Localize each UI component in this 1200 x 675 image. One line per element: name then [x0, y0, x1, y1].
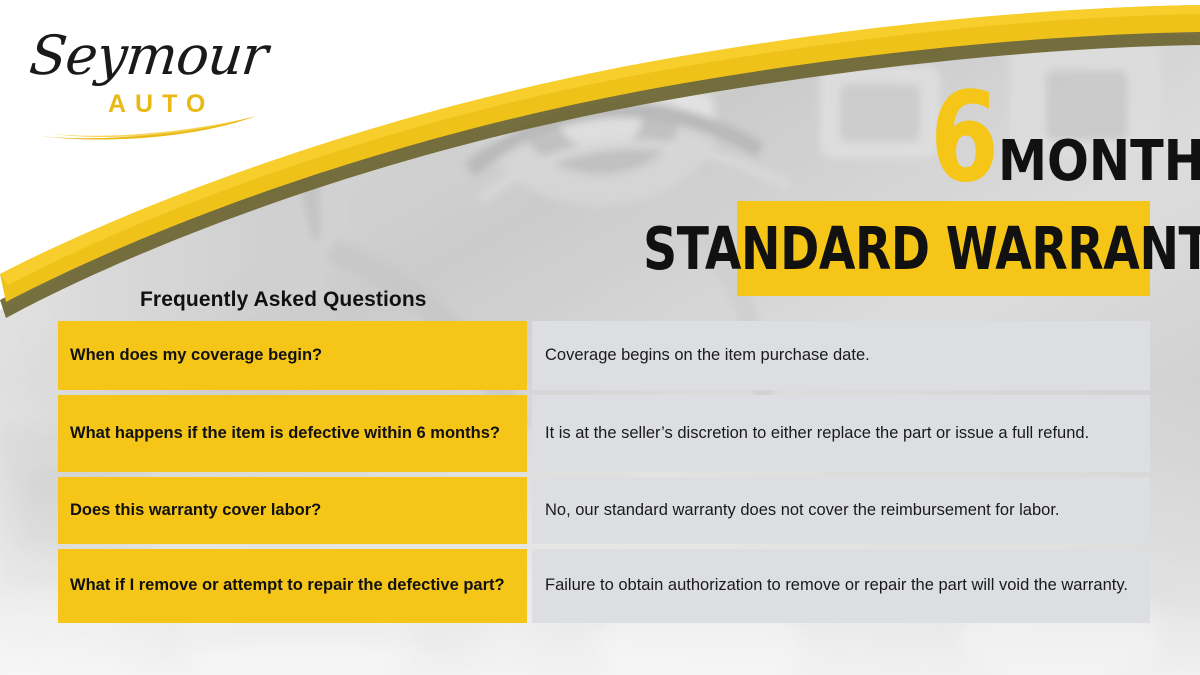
faq-heading: Frequently Asked Questions: [140, 288, 427, 312]
duration-number: 6: [930, 88, 997, 190]
table-row: When does my coverage begin? Coverage be…: [58, 321, 1150, 390]
faq-answer-text: Failure to obtain authorization to remov…: [545, 575, 1136, 596]
duration-unit: MONTH: [998, 138, 1200, 186]
faq-answer-cell: It is at the seller’s discretion to eith…: [532, 395, 1150, 472]
warranty-duration: 6 MONTH: [930, 78, 1200, 190]
faq-question-cell: What happens if the item is defective wi…: [58, 395, 527, 472]
faq-question-cell: When does my coverage begin?: [58, 321, 527, 390]
warranty-banner-title: STANDARD WARRANTY: [643, 219, 1200, 278]
table-row: Does this warranty cover labor? No, our …: [58, 477, 1150, 544]
faq-question-text: What if I remove or attempt to repair th…: [70, 575, 505, 596]
faq-answer-text: No, our standard warranty does not cover…: [545, 500, 1136, 521]
faq-question-cell: What if I remove or attempt to repair th…: [58, 549, 527, 623]
table-row: What if I remove or attempt to repair th…: [58, 549, 1150, 623]
swoosh-icon: [34, 108, 264, 142]
faq-answer-cell: Failure to obtain authorization to remov…: [532, 549, 1150, 623]
faq-question-text: Does this warranty cover labor?: [70, 500, 321, 521]
brand-logo[interactable]: Seymour AUTO: [24, 22, 264, 134]
faq-answer-cell: Coverage begins on the item purchase dat…: [532, 321, 1150, 390]
faq-answer-text: It is at the seller’s discretion to eith…: [545, 423, 1136, 444]
faq-question-text: When does my coverage begin?: [70, 345, 322, 366]
faq-answer-text: Coverage begins on the item purchase dat…: [545, 345, 1136, 366]
faq-question-text: What happens if the item is defective wi…: [70, 423, 500, 444]
faq-question-cell: Does this warranty cover labor?: [58, 477, 527, 544]
faq-table: When does my coverage begin? Coverage be…: [58, 321, 1150, 623]
faq-answer-cell: No, our standard warranty does not cover…: [532, 477, 1150, 544]
warranty-slide: Seymour AUTO 6 MONTH STANDARD WARRANTY F…: [0, 0, 1200, 675]
logo-script-text: Seymour: [27, 24, 270, 87]
table-row: What happens if the item is defective wi…: [58, 395, 1150, 472]
warranty-banner: STANDARD WARRANTY: [737, 201, 1150, 296]
